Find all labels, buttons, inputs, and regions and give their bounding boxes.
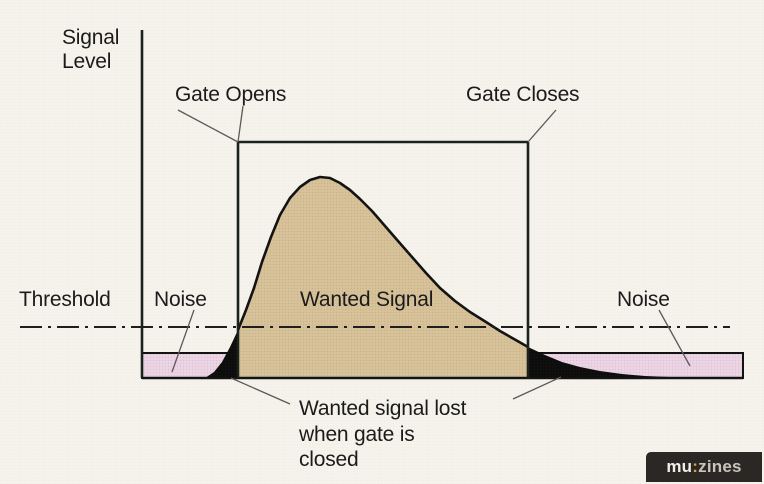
label-noise-left: Noise [154,288,207,312]
label-gate-closes: Gate Closes [466,83,579,107]
label-threshold: Threshold [19,288,111,312]
leader-gate-opens [238,106,243,142]
noise-gate-diagram: Signal Level Gate Opens Gate Closes Thre… [0,0,764,484]
watermark-mu: mu [666,457,692,477]
wanted-signal-area [205,177,528,378]
muzines-watermark: mu:zines [646,452,762,482]
caption-wanted-signal-lost: Wanted signal lost when gate is closed [299,396,466,473]
leader-lost-signal-right [513,377,561,399]
leader-gate-opens-b [178,110,238,142]
label-wanted-signal: Wanted Signal [300,288,433,312]
leader-gate-closes [528,110,556,142]
label-noise-right: Noise [617,288,670,312]
axis-label-signal-level: Signal Level [62,26,119,73]
leader-lost-signal-left [231,378,290,404]
label-gate-opens: Gate Opens [175,83,286,107]
watermark-zines: zines [698,457,742,477]
